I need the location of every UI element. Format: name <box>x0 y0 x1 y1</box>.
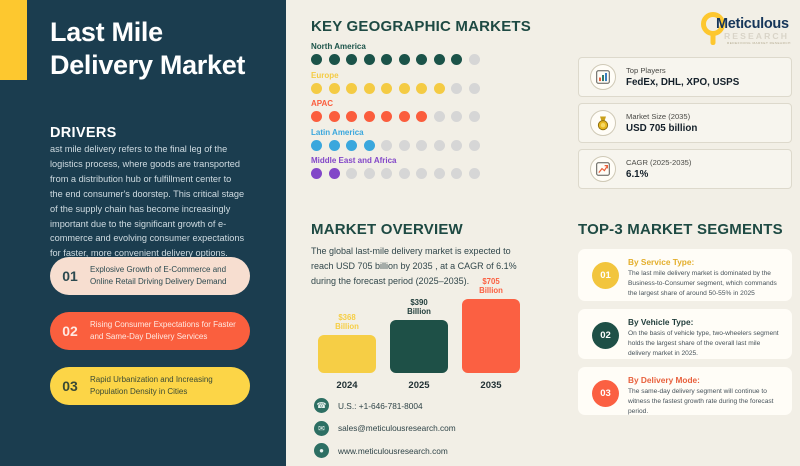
drivers-heading: DRIVERS <box>50 125 117 141</box>
bar-2025 <box>390 320 448 373</box>
geo-dot-scale <box>311 168 561 179</box>
driver-number: 01 <box>50 268 90 284</box>
geo-region-row: Europe <box>311 71 561 94</box>
geo-dot-scale <box>311 83 561 94</box>
market-size-bar-chart: $368Billion $390Billion $705Billion 2024… <box>318 286 538 391</box>
geo-dot-empty <box>364 168 375 179</box>
bar-category-label: 2024 <box>318 380 376 391</box>
geo-dot-filled <box>346 54 357 65</box>
kpi-caption: Top Players <box>626 66 739 75</box>
geo-dot-empty <box>469 168 480 179</box>
geo-dot-filled <box>399 54 410 65</box>
contact-text: U.S.: +1-646-781-8004 <box>338 401 423 411</box>
bar-group: $705Billion <box>462 278 520 373</box>
geo-dot-empty <box>434 111 445 122</box>
segment-card[interactable]: 03 By Delivery Mode: The same-day delive… <box>578 367 792 415</box>
bar-category-label: 2035 <box>462 380 520 391</box>
kpi-card-market-size[interactable]: Market Size (2035) USD 705 billion <box>578 103 792 143</box>
geo-dot-filled <box>364 83 375 94</box>
segment-card[interactable]: 02 By Vehicle Type: On the basis of vehi… <box>578 309 792 359</box>
bar-value-label: $390Billion <box>390 299 448 317</box>
geo-dot-filled <box>329 54 340 65</box>
driver-card[interactable]: 01 Explosive Growth of E-Commerce and On… <box>50 257 250 295</box>
market-overview-title: MARKET OVERVIEW <box>311 221 463 238</box>
segment-heading: By Service Type: <box>628 257 782 267</box>
geo-dot-filled <box>381 54 392 65</box>
geo-dot-filled <box>434 54 445 65</box>
geo-dot-empty <box>381 168 392 179</box>
segment-body: The last mile delivery market is dominat… <box>628 269 782 299</box>
driver-label: Rapid Urbanization and Increasing Popula… <box>90 374 250 397</box>
geo-dot-filled <box>416 54 427 65</box>
geo-dot-empty <box>469 83 480 94</box>
geo-dot-filled <box>346 111 357 122</box>
accent-bar <box>0 0 27 80</box>
geo-dot-empty <box>469 111 480 122</box>
geo-dot-empty <box>451 168 462 179</box>
bar-value-label: $705Billion <box>462 278 520 296</box>
segment-number: 02 <box>592 322 619 349</box>
bar-2035 <box>462 299 520 373</box>
geographic-markets-list: North AmericaEuropeAPACLatin AmericaMidd… <box>311 42 561 185</box>
geo-dot-empty <box>434 140 445 151</box>
drivers-body-text: ast mile delivery refers to the final le… <box>50 142 246 261</box>
segment-card[interactable]: 01 By Service Type: The last mile delive… <box>578 249 792 301</box>
geo-dot-filled <box>329 111 340 122</box>
contact-text: www.meticulousresearch.com <box>338 446 448 456</box>
geo-dot-filled <box>311 83 322 94</box>
geo-dot-filled <box>329 168 340 179</box>
driver-label: Explosive Growth of E-Commerce and Onlin… <box>90 264 250 287</box>
kpi-card-cagr[interactable]: CAGR (2025-2035) 6.1% <box>578 149 792 189</box>
logo-name: Meticulous <box>716 16 789 32</box>
geo-dot-empty <box>399 140 410 151</box>
segment-heading: By Delivery Mode: <box>628 375 782 385</box>
globe-icon: ● <box>314 443 329 458</box>
kpi-card-top-players[interactable]: Top Players FedEx, DHL, XPO, USPS <box>578 57 792 97</box>
geo-dot-filled <box>346 140 357 151</box>
driver-number: 02 <box>50 323 90 339</box>
contact-text: sales@meticulousresearch.com <box>338 423 456 433</box>
contact-row[interactable]: ☎U.S.: +1-646-781-8004 <box>314 398 456 413</box>
geo-dot-filled <box>364 140 375 151</box>
geo-dot-filled <box>346 83 357 94</box>
geo-dot-empty <box>451 83 462 94</box>
geo-region-label: APAC <box>311 99 561 108</box>
geo-dot-filled <box>311 111 322 122</box>
meticulous-research-logo: Meticulous RESEARCH REDEFINING MARKET RE… <box>694 10 794 48</box>
logo-subtitle: RESEARCH <box>724 31 789 41</box>
geo-dot-filled <box>311 168 322 179</box>
driver-number: 03 <box>50 378 90 394</box>
logo-tagline: REDEFINING MARKET RESEARCH <box>727 41 791 45</box>
geo-dot-filled <box>329 140 340 151</box>
kpi-value: USD 705 billion <box>626 123 697 134</box>
geo-dot-empty <box>434 168 445 179</box>
bar-group: $390Billion <box>390 299 448 373</box>
geo-dot-filled <box>434 83 445 94</box>
geo-dot-empty <box>416 140 427 151</box>
page-title: Last Mile Delivery Market <box>50 16 260 82</box>
geo-dot-scale <box>311 54 561 65</box>
email-icon: ✉ <box>314 421 329 436</box>
bar-value-label: $368Billion <box>318 314 376 332</box>
segment-number: 03 <box>592 380 619 407</box>
medal-icon <box>590 110 616 136</box>
geo-dot-scale <box>311 140 561 151</box>
geo-dot-empty <box>451 140 462 151</box>
geo-dot-empty <box>399 168 410 179</box>
geo-dot-filled <box>381 111 392 122</box>
segment-heading: By Vehicle Type: <box>628 317 782 327</box>
contact-row[interactable]: ●www.meticulousresearch.com <box>314 443 456 458</box>
segment-body: The same-day delivery segment will conti… <box>628 387 782 417</box>
geo-dot-scale <box>311 111 561 122</box>
kpi-caption: CAGR (2025-2035) <box>626 158 691 167</box>
contact-list: ☎U.S.: +1-646-781-8004✉sales@meticulousr… <box>314 398 456 466</box>
geo-dot-filled <box>364 54 375 65</box>
geo-dot-empty <box>469 140 480 151</box>
geo-region-label: Middle East and Africa <box>311 156 561 165</box>
bar-category-label: 2025 <box>390 380 448 391</box>
geo-dot-filled <box>451 54 462 65</box>
infographic-page: Last Mile Delivery Market DRIVERS ast mi… <box>0 0 800 466</box>
geo-dot-empty <box>469 54 480 65</box>
contact-row[interactable]: ✉sales@meticulousresearch.com <box>314 421 456 436</box>
geo-region-label: North America <box>311 42 561 51</box>
geo-region-label: Europe <box>311 71 561 80</box>
geo-dot-filled <box>311 140 322 151</box>
phone-icon: ☎ <box>314 398 329 413</box>
geo-region-label: Latin America <box>311 128 561 137</box>
geo-dot-filled <box>399 111 410 122</box>
market-segments-title: TOP-3 MARKET SEGMENTS <box>578 221 783 238</box>
segment-number: 01 <box>592 262 619 289</box>
geographic-markets-title: KEY GEOGRAPHIC MARKETS <box>311 18 531 35</box>
geo-dot-filled <box>399 83 410 94</box>
kpi-value: 6.1% <box>626 169 691 180</box>
trend-up-icon <box>590 156 616 182</box>
bar-group: $368Billion <box>318 314 376 373</box>
geo-dot-filled <box>329 83 340 94</box>
driver-label: Rising Consumer Expectations for Faster … <box>90 319 250 342</box>
geo-region-row: Latin America <box>311 128 561 151</box>
bar-chart-icon <box>590 64 616 90</box>
geo-dot-filled <box>416 83 427 94</box>
geo-dot-empty <box>346 168 357 179</box>
geo-dot-empty <box>451 111 462 122</box>
geo-dot-filled <box>364 111 375 122</box>
geo-region-row: North America <box>311 42 561 65</box>
geo-region-row: APAC <box>311 99 561 122</box>
geo-dot-filled <box>311 54 322 65</box>
geo-region-row: Middle East and Africa <box>311 156 561 179</box>
bar-2024 <box>318 335 376 373</box>
kpi-caption: Market Size (2035) <box>626 112 697 121</box>
geo-dot-filled <box>381 83 392 94</box>
geo-dot-filled <box>416 111 427 122</box>
driver-card[interactable]: 02 Rising Consumer Expectations for Fast… <box>50 312 250 350</box>
driver-card[interactable]: 03 Rapid Urbanization and Increasing Pop… <box>50 367 250 405</box>
segment-body: On the basis of vehicle type, two-wheele… <box>628 329 782 359</box>
kpi-value: FedEx, DHL, XPO, USPS <box>626 77 739 88</box>
geo-dot-empty <box>416 168 427 179</box>
geo-dot-empty <box>381 140 392 151</box>
